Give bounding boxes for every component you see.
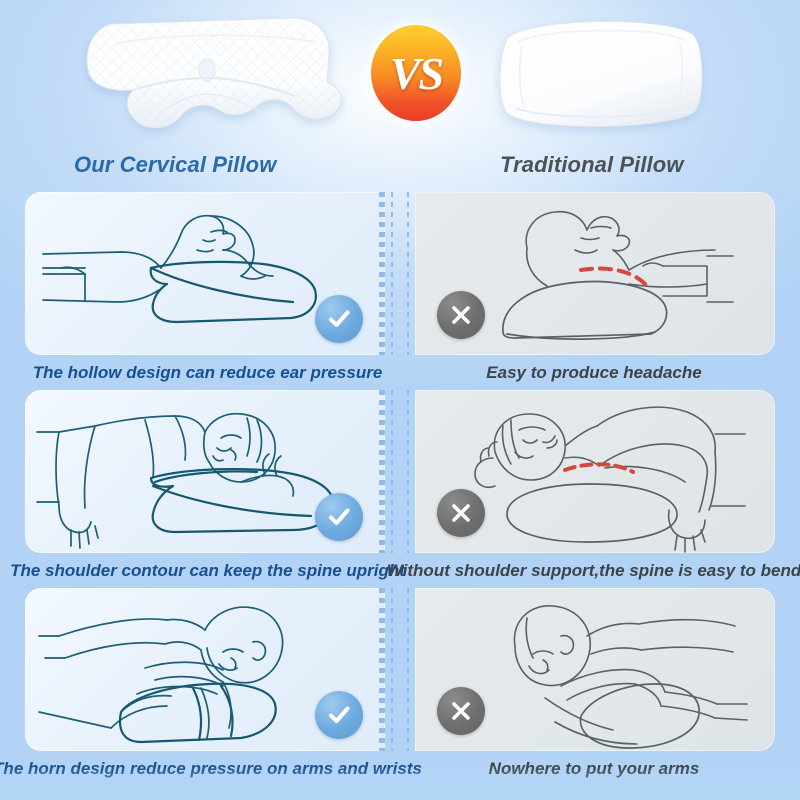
good-panel-1 — [25, 192, 385, 355]
right-product-title: Traditional Pillow — [500, 152, 684, 178]
infographic-canvas: VS Our Cervical Pillow Traditional Pillo… — [0, 0, 800, 800]
bad-caption-3: Nowhere to put your arms — [408, 754, 780, 784]
check-badge — [315, 295, 363, 343]
vs-badge: VS — [371, 25, 461, 121]
x-badge — [437, 291, 485, 339]
hero-section: VS Our Cervical Pillow Traditional Pillo… — [0, 0, 800, 190]
comparison-row-3: The horn design reduce pressure on arms … — [0, 588, 800, 785]
bad-panel-1 — [415, 192, 775, 355]
panel-perforation-edge — [379, 192, 385, 355]
comparison-row-1: The hollow design can reduce ear pressur… — [0, 192, 800, 389]
vs-badge-label: VS — [371, 25, 461, 121]
cervical-pillow-image — [55, 4, 355, 144]
good-caption-3: The horn design reduce pressure on arms … — [25, 754, 390, 784]
bad-panel-2 — [415, 390, 775, 553]
good-panel-2 — [25, 390, 385, 553]
bad-panel-3 — [415, 588, 775, 751]
spine-strain-indicator — [565, 464, 633, 472]
panel-perforation-edge — [379, 588, 385, 751]
panel-perforation-edge — [379, 390, 385, 553]
panel-divider-perforation — [388, 192, 412, 355]
panel-divider-perforation — [388, 390, 412, 553]
x-badge — [437, 489, 485, 537]
bad-caption-1: Easy to produce headache — [408, 358, 780, 388]
check-badge — [315, 691, 363, 739]
good-panel-3 — [25, 588, 385, 751]
traditional-pillow-image — [492, 8, 710, 140]
x-badge — [437, 687, 485, 735]
check-badge — [315, 493, 363, 541]
good-caption-2: The shoulder contour can keep the spine … — [25, 556, 390, 586]
good-caption-1: The hollow design can reduce ear pressur… — [25, 358, 390, 388]
bad-caption-2: Without shoulder support,the spine is ea… — [408, 556, 780, 586]
comparison-row-2: The shoulder contour can keep the spine … — [0, 390, 800, 587]
panel-divider-perforation — [388, 588, 412, 751]
left-product-title: Our Cervical Pillow — [74, 152, 276, 178]
